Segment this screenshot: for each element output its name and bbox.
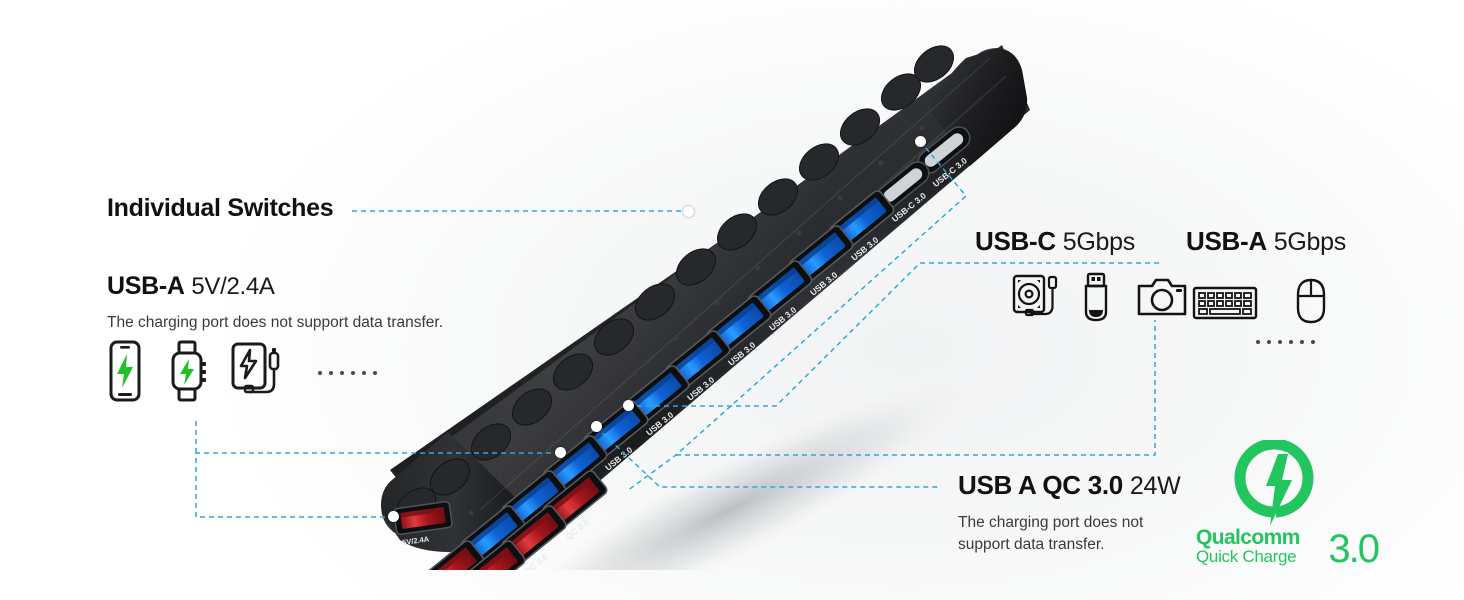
smartwatch-charging-icon <box>164 340 210 407</box>
callout-dot-usb-c <box>915 136 926 147</box>
callout-dot-qc-2 <box>555 447 566 458</box>
qualcomm-version: 3.0 <box>1328 530 1378 568</box>
callout-dot-switch <box>683 206 694 217</box>
usb-a-charge-device-icons <box>104 340 377 407</box>
infographic-canvas: USB-C 3.0 USB-C 3.0 USB 3.0 USB 3.0 USB … <box>0 0 1464 600</box>
usb-a-qc-light: 24W <box>1130 472 1181 500</box>
callout-title-usb-a-qc: USB A QC 3.0 24W <box>958 470 1180 501</box>
callout-title-usb-a-data: USB-A 5Gbps <box>1186 226 1346 257</box>
usb-a-charge-bold: USB-A <box>107 272 185 300</box>
camera-icon <box>1136 272 1188 329</box>
qualcomm-quick-charge-logo: Qualcomm Quick Charge 3.0 <box>1196 440 1376 568</box>
callout-dot-qc-1 <box>591 421 602 432</box>
usb-a-data-more-dots <box>1256 322 1315 362</box>
usb-c-data-light: 5Gbps <box>1063 228 1135 256</box>
callout-title-individual-switches: Individual Switches <box>107 194 333 223</box>
external-hard-drive-icon <box>1012 272 1060 329</box>
phone-charging-icon <box>104 340 146 407</box>
individual-switches-label: Individual Switches <box>107 194 333 222</box>
usb-a-charge-light: 5V/2.4A <box>191 273 274 300</box>
svg-text:5V/2.4A: 5V/2.4A <box>402 534 431 547</box>
usb-c-device-icons <box>1012 272 1188 329</box>
usb-a-qc-note-line1: The charging port does not <box>958 512 1143 534</box>
usb-flash-drive-icon <box>1080 272 1112 329</box>
callout-dot-charge-front <box>388 511 399 522</box>
usb-hub-front-ports: QC 3.0 QC 3.0 5V/2.4A 5V/2.4A <box>330 40 1030 570</box>
power-bank-charging-icon <box>228 340 284 407</box>
usb-hub-product-image: USB-C 3.0 USB-C 3.0 USB 3.0 USB 3.0 USB … <box>330 40 1030 570</box>
usb-c-data-bold: USB-C <box>975 226 1056 256</box>
usb-a-qc-note-line2: support data transfer. <box>958 534 1104 556</box>
usb-a-data-light: 5Gbps <box>1274 228 1346 256</box>
usb-a-charge-note: The charging port does not support data … <box>107 312 443 334</box>
callout-dot-usb-a-data <box>623 400 634 411</box>
keyboard-icon <box>1192 282 1258 329</box>
usb-a-charge-more-dots <box>318 353 377 393</box>
usb-a-data-bold: USB-A <box>1186 226 1267 256</box>
usb-a-qc-bold: USB A QC 3.0 <box>958 470 1123 500</box>
callout-title-usb-c-data: USB-C 5Gbps <box>975 226 1135 257</box>
callout-title-usb-a-charge: USB-A 5V/2.4A <box>107 272 275 301</box>
